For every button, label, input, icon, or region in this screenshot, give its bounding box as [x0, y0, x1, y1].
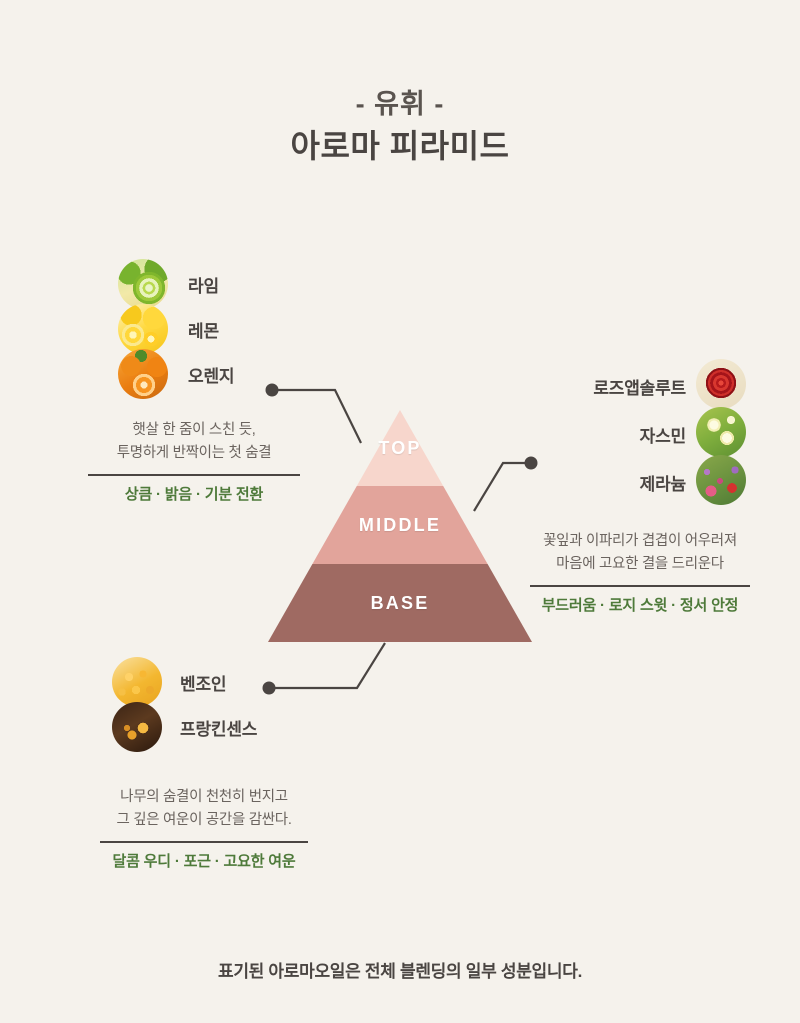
- pyramid-level-middle[interactable]: MIDDLE: [268, 486, 532, 564]
- page-title: - 유휘 - 아로마 피라미드: [0, 88, 800, 167]
- pyramid-level-top[interactable]: TOP: [268, 410, 532, 486]
- title-main: 아로마 피라미드: [0, 126, 800, 168]
- list-item[interactable]: 로즈앱솔루트: [530, 362, 750, 410]
- middle-description: 꽃잎과 이파리가 겹겹이 어우러져 마음에 고요한 결을 드리운다: [530, 530, 750, 577]
- middle-note-list: 로즈앱솔루트 자스민 제라늄: [530, 362, 750, 506]
- note-group-base: 벤조인 프랑킨센스 나무의 숨결이 천천히 번지고 그 깊은 여운이 공간을 감…: [100, 660, 308, 871]
- lime-thumbnail: [118, 259, 168, 309]
- note-name: 벤조인: [180, 670, 226, 695]
- note-group-top: 라임 레몬 오렌지 햇살 한 줌이 스친 듯, 투명하게 반짝이는 첫 숨결 상…: [88, 262, 300, 504]
- pyramid-top-label: TOP: [378, 438, 421, 459]
- list-item[interactable]: 라임: [88, 262, 300, 307]
- pyramid-level-base[interactable]: BASE: [268, 564, 532, 642]
- note-name: 제라늄: [640, 470, 686, 495]
- note-name: 자스민: [640, 422, 686, 447]
- note-name: 프랑킨센스: [180, 715, 257, 740]
- note-name: 로즈앱솔루트: [593, 374, 686, 399]
- top-description-block: 햇살 한 줌이 스친 듯, 투명하게 반짝이는 첫 숨결 상큼 · 밝음 · 기…: [88, 419, 300, 504]
- divider: [100, 841, 308, 843]
- base-description-block: 나무의 숨결이 천천히 번지고 그 깊은 여운이 공간을 감싼다. 달콤 우디 …: [100, 786, 308, 871]
- benzoin-thumbnail: [112, 657, 162, 707]
- list-item[interactable]: 오렌지: [88, 352, 300, 397]
- pyramid-middle-label: MIDDLE: [359, 515, 441, 536]
- middle-keywords: 부드러움 · 로지 스윗 · 정서 안정: [530, 594, 750, 615]
- orange-thumbnail: [118, 349, 168, 399]
- top-note-list: 라임 레몬 오렌지: [88, 262, 300, 397]
- list-item[interactable]: 벤조인: [100, 660, 308, 705]
- lemon-thumbnail: [118, 304, 168, 354]
- divider: [88, 474, 300, 476]
- base-note-list: 벤조인 프랑킨센스: [100, 660, 308, 750]
- list-item[interactable]: 자스민: [530, 410, 750, 458]
- aroma-pyramid: TOP MIDDLE BASE: [268, 410, 532, 642]
- note-name: 레몬: [188, 317, 219, 342]
- note-name: 오렌지: [188, 362, 234, 387]
- top-keywords: 상큼 · 밝음 · 기분 전환: [88, 483, 300, 504]
- pyramid-base-label: BASE: [371, 593, 430, 614]
- list-item[interactable]: 제라늄: [530, 458, 750, 506]
- note-name: 라임: [188, 272, 219, 297]
- middle-description-block: 꽃잎과 이파리가 겹겹이 어우러져 마음에 고요한 결을 드리운다 부드러움 ·…: [530, 530, 750, 615]
- base-description: 나무의 숨결이 천천히 번지고 그 깊은 여운이 공간을 감싼다.: [100, 786, 308, 833]
- frankincense-thumbnail: [112, 702, 162, 752]
- list-item[interactable]: 레몬: [88, 307, 300, 352]
- footer-note: 표기된 아로마오일은 전체 블렌딩의 일부 성분입니다.: [0, 957, 800, 982]
- geranium-thumbnail: [696, 455, 746, 505]
- note-group-middle: 로즈앱솔루트 자스민 제라늄 꽃잎과 이파리가 겹겹이 어우러져 마음에 고요한…: [530, 362, 750, 615]
- base-keywords: 달콤 우디 · 포근 · 고요한 여운: [100, 850, 308, 871]
- title-subtitle: - 유휘 -: [0, 88, 800, 122]
- jasmine-thumbnail: [696, 407, 746, 457]
- list-item[interactable]: 프랑킨센스: [100, 705, 308, 750]
- divider: [530, 585, 750, 587]
- top-description: 햇살 한 줌이 스친 듯, 투명하게 반짝이는 첫 숨결: [88, 419, 300, 466]
- rose-thumbnail: [696, 359, 746, 409]
